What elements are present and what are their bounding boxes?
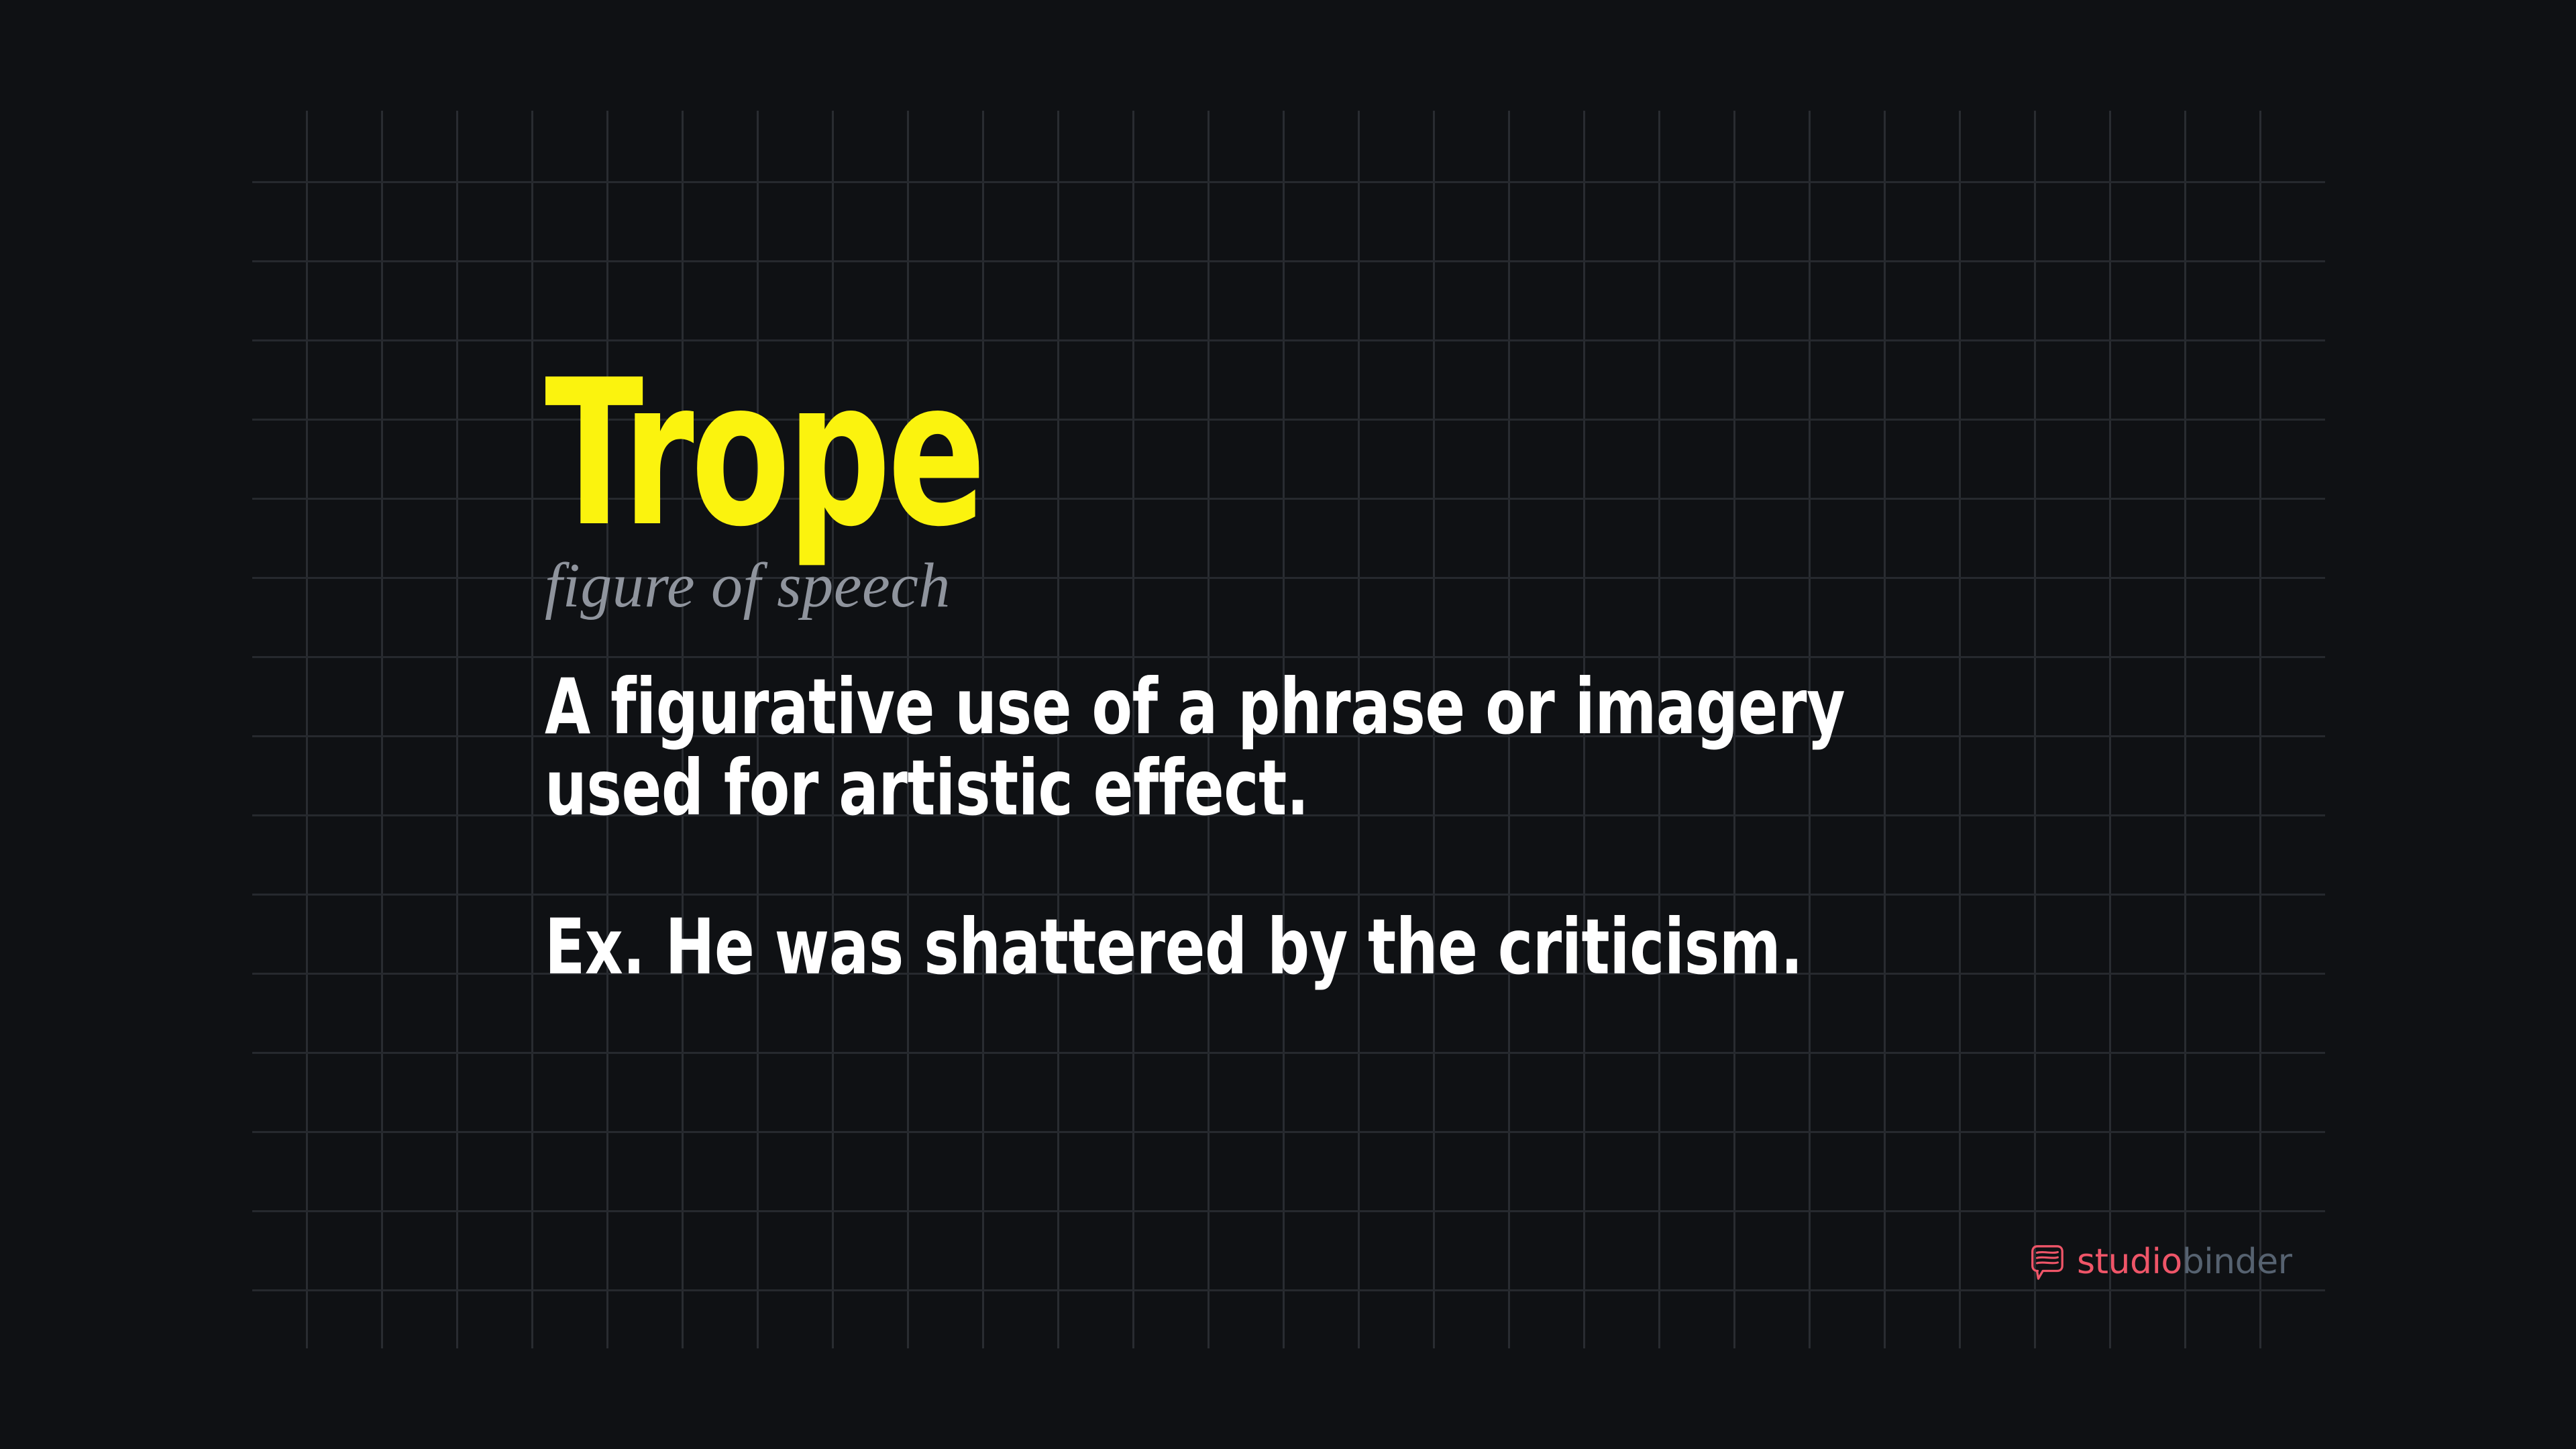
grid-line-horizontal bbox=[252, 181, 2325, 183]
logo-word-binder: binder bbox=[2182, 1242, 2292, 1282]
definition-body: A figurative use of a phrase or imagery … bbox=[545, 667, 2222, 987]
definition-slide: Trope figure of speech A figurative use … bbox=[0, 0, 2576, 1449]
logo-word-studio: studio bbox=[2077, 1242, 2182, 1282]
page-title: Trope bbox=[545, 376, 1886, 533]
grid-line-horizontal bbox=[252, 260, 2325, 262]
grid-line-horizontal bbox=[252, 1052, 2325, 1054]
logo-wordmark: studiobinder bbox=[2077, 1244, 2292, 1279]
grid-line-horizontal bbox=[252, 1210, 2325, 1212]
grid-line-vertical bbox=[2259, 111, 2261, 1348]
definition-line-2: used for artistic effect. bbox=[545, 748, 1987, 829]
studiobinder-logo[interactable]: studiobinder bbox=[2027, 1242, 2292, 1281]
definition-line-1: A figurative use of a phrase or imagery bbox=[545, 667, 1987, 748]
grid-line-vertical bbox=[531, 111, 533, 1348]
example-line: Ex. He was shattered by the criticism. bbox=[545, 907, 1987, 988]
grid-line-horizontal bbox=[252, 1289, 2325, 1291]
definition-content: Trope figure of speech A figurative use … bbox=[545, 376, 2222, 987]
grid-line-vertical bbox=[456, 111, 458, 1348]
grid-line-vertical bbox=[306, 111, 308, 1348]
grid-line-horizontal bbox=[252, 1131, 2325, 1133]
body-spacer bbox=[545, 829, 2222, 907]
grid-line-vertical bbox=[381, 111, 383, 1348]
speech-bubble-icon bbox=[2027, 1242, 2066, 1281]
